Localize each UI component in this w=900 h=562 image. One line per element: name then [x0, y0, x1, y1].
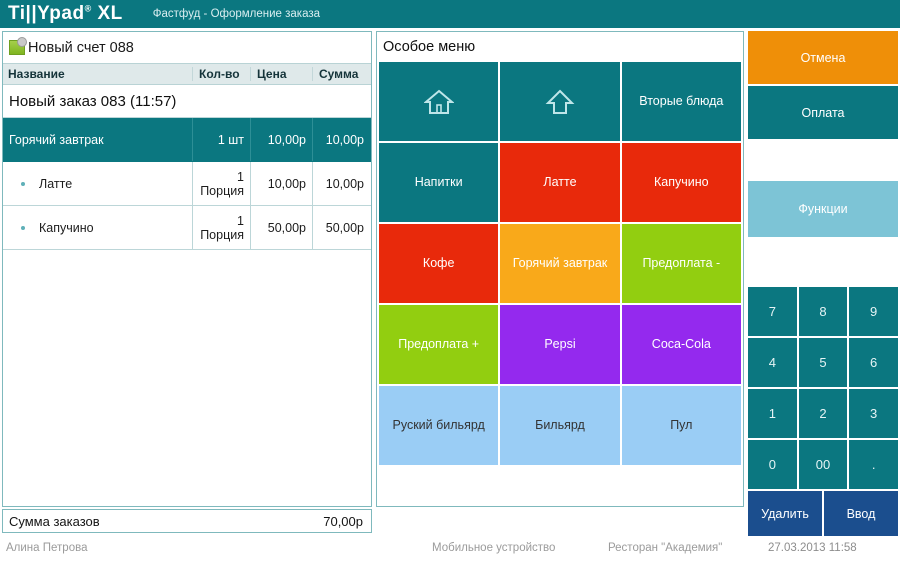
keypad-key-6[interactable]: 6	[849, 338, 898, 387]
account-square-icon	[9, 40, 25, 55]
order-row-label: Горячий завтрак	[9, 133, 104, 147]
app-logo: Ti||Ypad® XL	[0, 3, 123, 25]
order-row-label: Латте	[39, 177, 72, 191]
order-table-header: Название Кол-во Цена Сумма	[3, 63, 371, 85]
breadcrumb: Фастфуд - Оформление заказа	[123, 8, 320, 20]
order-row-name: Горячий завтрак	[3, 133, 192, 147]
order-panel: Новый счет 088 Название Кол-во Цена Сумм…	[2, 31, 372, 507]
enter-button[interactable]: Ввод	[824, 491, 898, 536]
total-label: Сумма заказов	[3, 514, 100, 529]
order-row-label: Капучино	[39, 221, 94, 235]
orders-total-bar: Сумма заказов 70,00р	[2, 509, 372, 533]
order-rows: Горячий завтрак1 шт10,00р10,00рЛатте1 По…	[3, 117, 371, 250]
bullet-icon	[21, 182, 25, 186]
menu-tile-label: Кофе	[423, 256, 454, 270]
menu-tile[interactable]: Предоплата +	[379, 305, 498, 384]
keypad-key-3[interactable]: 3	[849, 389, 898, 438]
menu-tile[interactable]: Вторые блюда	[622, 62, 741, 141]
functions-button[interactable]: Функции	[748, 181, 898, 237]
keypad-key-7[interactable]: 7	[748, 287, 797, 336]
order-row-price: 50,00р	[250, 206, 312, 249]
menu-tile[interactable]: Напитки	[379, 143, 498, 222]
keypad-key-2[interactable]: 2	[799, 389, 848, 438]
menu-panel: Особое меню Вторые блюдаНапиткиЛаттеКапу…	[376, 31, 744, 507]
action-panel: Отмена Оплата Функции 789456123000. Удал…	[748, 31, 898, 534]
menu-tile-label: Капучино	[654, 175, 709, 189]
brand-name: Ti||Ypad	[8, 3, 85, 24]
order-group-title[interactable]: Новый заказ 083 (11:57)	[3, 85, 371, 117]
status-device: Мобильное устройство	[432, 542, 555, 554]
menu-tile-label: Предоплата +	[398, 337, 479, 351]
menu-tile-label: Руский бильярд	[393, 418, 485, 432]
keypad-key-decimal[interactable]: .	[849, 440, 898, 489]
arrow-up-icon[interactable]	[500, 62, 619, 141]
keypad-key-0[interactable]: 0	[748, 440, 797, 489]
keypad-key-1[interactable]: 1	[748, 389, 797, 438]
menu-tile[interactable]: Кофе	[379, 224, 498, 303]
order-row-price: 10,00р	[250, 162, 312, 205]
keypad-key-8[interactable]: 8	[799, 287, 848, 336]
status-user: Алина Петрова	[6, 542, 87, 554]
menu-tile-label: Coca-Cola	[652, 337, 711, 351]
order-row-name: Латте	[3, 177, 192, 191]
total-value: 70,00р	[323, 514, 371, 529]
brand-edition: XL	[98, 3, 123, 24]
menu-tile[interactable]: Coca-Cola	[622, 305, 741, 384]
menu-tile-label: Предоплата -	[642, 256, 720, 270]
order-row-price: 10,00р	[250, 118, 312, 161]
brand-registered-mark: ®	[85, 4, 92, 14]
menu-tile-label: Горячий завтрак	[513, 256, 608, 270]
status-bar: Алина Петрова Мобильное устройство Ресто…	[0, 538, 900, 562]
pos-application: Ti||Ypad® XL Фастфуд - Оформление заказа…	[0, 0, 900, 562]
menu-tile[interactable]: Руский бильярд	[379, 386, 498, 465]
keypad-action-row: Удалить Ввод	[748, 491, 898, 536]
order-row[interactable]: Латте1 Порция10,00р10,00р	[3, 162, 371, 206]
order-row[interactable]: Капучино1 Порция50,00р50,00р	[3, 206, 371, 250]
menu-tile[interactable]: Пул	[622, 386, 741, 465]
keypad-key-5[interactable]: 5	[799, 338, 848, 387]
account-header[interactable]: Новый счет 088	[3, 32, 371, 63]
menu-tile-label: Бильярд	[535, 418, 585, 432]
order-row-qty: 1 Порция	[192, 162, 250, 205]
menu-tile-label: Вторые блюда	[639, 94, 723, 108]
menu-tile[interactable]: Капучино	[622, 143, 741, 222]
menu-tile[interactable]: Горячий завтрак	[500, 224, 619, 303]
order-row-qty: 1 Порция	[192, 206, 250, 249]
cancel-button[interactable]: Отмена	[748, 31, 898, 84]
delete-button[interactable]: Удалить	[748, 491, 822, 536]
column-header-name: Название	[3, 67, 192, 81]
order-row-sum: 10,00р	[312, 162, 371, 205]
menu-tile-grid: Вторые блюдаНапиткиЛаттеКапучиноКофеГоря…	[377, 62, 743, 467]
menu-tile[interactable]: Pepsi	[500, 305, 619, 384]
home-icon[interactable]	[379, 62, 498, 141]
column-header-price: Цена	[250, 67, 312, 81]
menu-title: Особое меню	[377, 32, 743, 62]
bullet-icon	[21, 226, 25, 230]
status-datetime: 27.03.2013 11:58	[768, 542, 857, 554]
menu-tile-label: Pepsi	[544, 337, 575, 351]
menu-tile-label: Напитки	[415, 175, 463, 189]
menu-tile[interactable]: Предоплата -	[622, 224, 741, 303]
pay-button[interactable]: Оплата	[748, 86, 898, 139]
keypad-key-00[interactable]: 00	[799, 440, 848, 489]
title-bar: Ti||Ypad® XL Фастфуд - Оформление заказа	[0, 0, 900, 28]
order-row-name: Капучино	[3, 221, 192, 235]
account-title: Новый счет 088	[28, 40, 134, 56]
menu-tile-label: Латте	[543, 175, 576, 189]
menu-tile-label: Пул	[670, 418, 692, 432]
status-restaurant: Ресторан "Академия"	[608, 542, 722, 554]
keypad-key-9[interactable]: 9	[849, 287, 898, 336]
column-header-sum: Сумма	[312, 67, 371, 81]
order-row-sum: 10,00р	[312, 118, 371, 161]
order-row-qty: 1 шт	[192, 118, 250, 161]
keypad-key-4[interactable]: 4	[748, 338, 797, 387]
numeric-keypad: 789456123000.	[748, 287, 898, 489]
menu-tile[interactable]: Латте	[500, 143, 619, 222]
order-row-sum: 50,00р	[312, 206, 371, 249]
order-row[interactable]: Горячий завтрак1 шт10,00р10,00р	[3, 118, 371, 162]
menu-tile[interactable]: Бильярд	[500, 386, 619, 465]
column-header-qty: Кол-во	[192, 67, 250, 81]
